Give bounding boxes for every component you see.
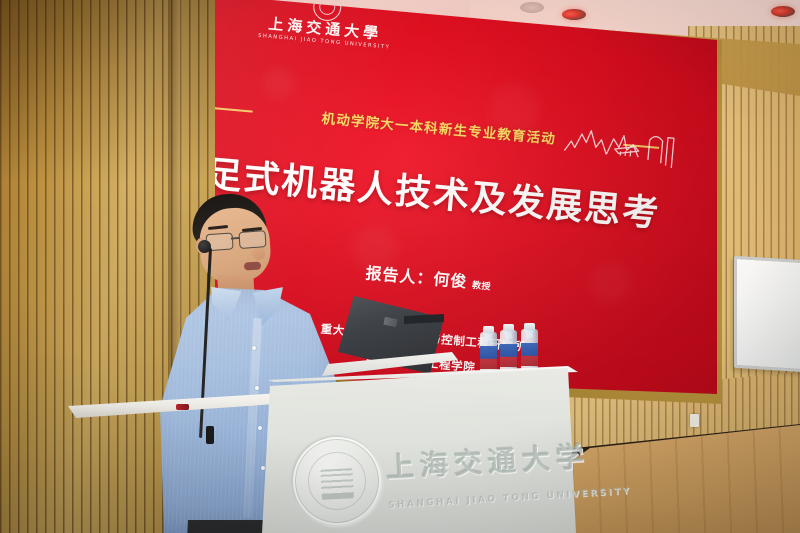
wall-outlet-icon [690,414,699,427]
glasses-icon [206,230,273,251]
bottle-label [500,344,517,367]
glasses-lens [238,230,266,249]
presenter-nose [252,247,265,260]
microphone-transmitter [206,426,214,444]
downlight-icon [562,9,586,20]
shirt-button [252,346,256,350]
bottle-label [521,343,538,366]
presenter-mouth [244,262,261,271]
lecture-hall-scene: 上海交通大學 SHANGHAI JIAO TONG UNIVERSITY 机动学… [0,0,800,533]
shirt-button [255,386,259,390]
shirt-button [261,466,265,470]
whiteboard [734,256,800,372]
downlight-icon [771,6,795,17]
water-bottle [521,319,538,375]
downlight-icon [520,2,544,13]
table-object [176,404,189,410]
bottle-label [480,346,497,369]
shirt-button [258,426,262,430]
water-bottle [500,320,517,376]
